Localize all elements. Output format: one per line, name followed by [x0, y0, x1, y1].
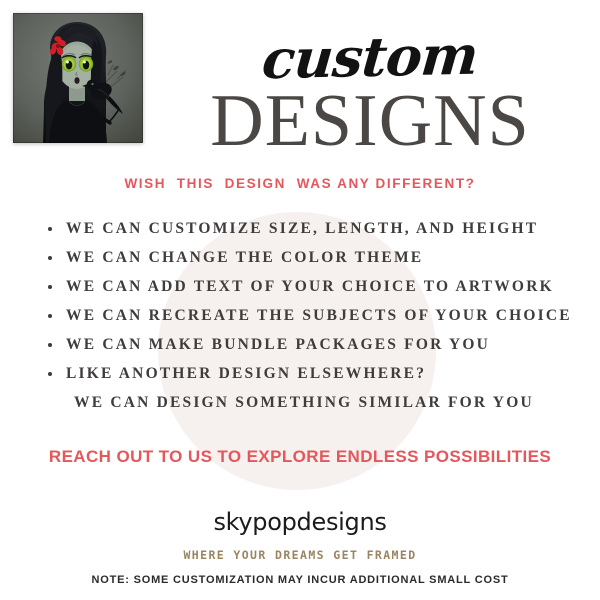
call-to-action: REACH OUT TO US TO EXPLORE ENDLESS POSSI…: [0, 447, 600, 467]
artwork-thumbnail[interactable]: [13, 13, 143, 143]
tagline: WISH THIS DESIGN WAS ANY DIFFERENT?: [0, 176, 600, 191]
list-item: WE CAN MAKE BUNDLE PACKAGES FOR YOU: [44, 330, 584, 359]
list-item: WE CAN CHANGE THE COLOR THEME: [44, 243, 584, 272]
list-item: WE CAN RECREATE THE SUBJECTS OF YOUR CHO…: [44, 301, 584, 330]
custom-designs-poster: custom DESIGNS WISH THIS DESIGN WAS ANY …: [0, 0, 600, 600]
list-item-label: WE CAN CHANGE THE COLOR THEME: [66, 249, 423, 266]
list-item-continuation: WE CAN DESIGN SOMETHING SIMILAR FOR YOU: [44, 388, 584, 417]
list-item-label: LIKE ANOTHER DESIGN ELSEWHERE?: [66, 365, 426, 382]
features-list: WE CAN CUSTOMIZE SIZE, LENGTH, AND HEIGH…: [44, 214, 584, 417]
bullet-icon: [48, 256, 52, 260]
list-item: WE CAN CUSTOMIZE SIZE, LENGTH, AND HEIGH…: [44, 214, 584, 243]
brand-name: skypopdesigns: [0, 508, 600, 536]
page-title: DESIGNS: [150, 86, 590, 157]
bullet-icon: [48, 227, 52, 231]
list-item-label: WE CAN CUSTOMIZE SIZE, LENGTH, AND HEIGH…: [66, 220, 538, 237]
bullet-icon: [48, 314, 52, 318]
brand-slogan: WHERE YOUR DREAMS GET FRAMED: [0, 548, 600, 562]
script-title: custom: [147, 25, 592, 88]
list-item-label: WE CAN MAKE BUNDLE PACKAGES FOR YOU: [66, 336, 490, 353]
bullet-icon: [48, 285, 52, 289]
list-item: LIKE ANOTHER DESIGN ELSEWHERE?: [44, 359, 584, 388]
list-item-label: WE CAN DESIGN SOMETHING SIMILAR FOR YOU: [74, 394, 534, 411]
list-item: WE CAN ADD TEXT OF YOUR CHOICE TO ARTWOR…: [44, 272, 584, 301]
bullet-icon: [48, 372, 52, 376]
list-item-label: WE CAN RECREATE THE SUBJECTS OF YOUR CHO…: [66, 307, 572, 324]
list-item-label: WE CAN ADD TEXT OF YOUR CHOICE TO ARTWOR…: [66, 278, 554, 295]
bullet-icon: [48, 343, 52, 347]
gothic-girl-illustration: [13, 13, 143, 143]
footer-note: NOTE: SOME CUSTOMIZATION MAY INCUR ADDIT…: [0, 574, 600, 586]
poster-header: custom DESIGNS: [150, 18, 590, 157]
